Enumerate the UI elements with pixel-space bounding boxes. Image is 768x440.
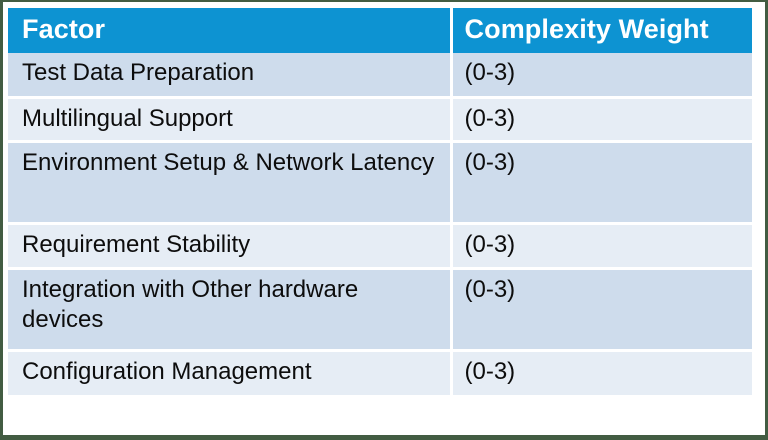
cell-factor: Multilingual Support xyxy=(8,97,451,142)
slide-frame: Factor Complexity Weight Test Data Prepa… xyxy=(0,0,768,440)
column-header-factor: Factor xyxy=(8,8,451,53)
table-header-row: Factor Complexity Weight xyxy=(8,8,752,53)
cell-factor: Requirement Stability xyxy=(8,224,451,269)
cell-complexity-weight: (0-3) xyxy=(451,269,752,351)
factor-complexity-table: Factor Complexity Weight Test Data Prepa… xyxy=(8,8,752,395)
cell-factor: Test Data Preparation xyxy=(8,53,451,97)
column-header-complexity-weight: Complexity Weight xyxy=(451,8,752,53)
table-row: Multilingual Support (0-3) xyxy=(8,97,752,142)
table-container: Factor Complexity Weight Test Data Prepa… xyxy=(8,8,752,395)
table-row: Requirement Stability (0-3) xyxy=(8,224,752,269)
cell-factor: Environment Setup & Network Latency xyxy=(8,142,451,224)
table-row: Configuration Management (0-3) xyxy=(8,351,752,395)
cell-complexity-weight: (0-3) xyxy=(451,97,752,142)
cell-factor: Configuration Management xyxy=(8,351,451,395)
table-header: Factor Complexity Weight xyxy=(8,8,752,53)
cell-complexity-weight: (0-3) xyxy=(451,224,752,269)
cell-complexity-weight: (0-3) xyxy=(451,53,752,97)
cell-complexity-weight: (0-3) xyxy=(451,351,752,395)
cell-complexity-weight: (0-3) xyxy=(451,142,752,224)
table-row: Test Data Preparation (0-3) xyxy=(8,53,752,97)
table-row: Environment Setup & Network Latency (0-3… xyxy=(8,142,752,224)
table-row: Integration with Other hardware devices … xyxy=(8,269,752,351)
cell-factor: Integration with Other hardware devices xyxy=(8,269,451,351)
table-body: Test Data Preparation (0-3) Multilingual… xyxy=(8,53,752,395)
